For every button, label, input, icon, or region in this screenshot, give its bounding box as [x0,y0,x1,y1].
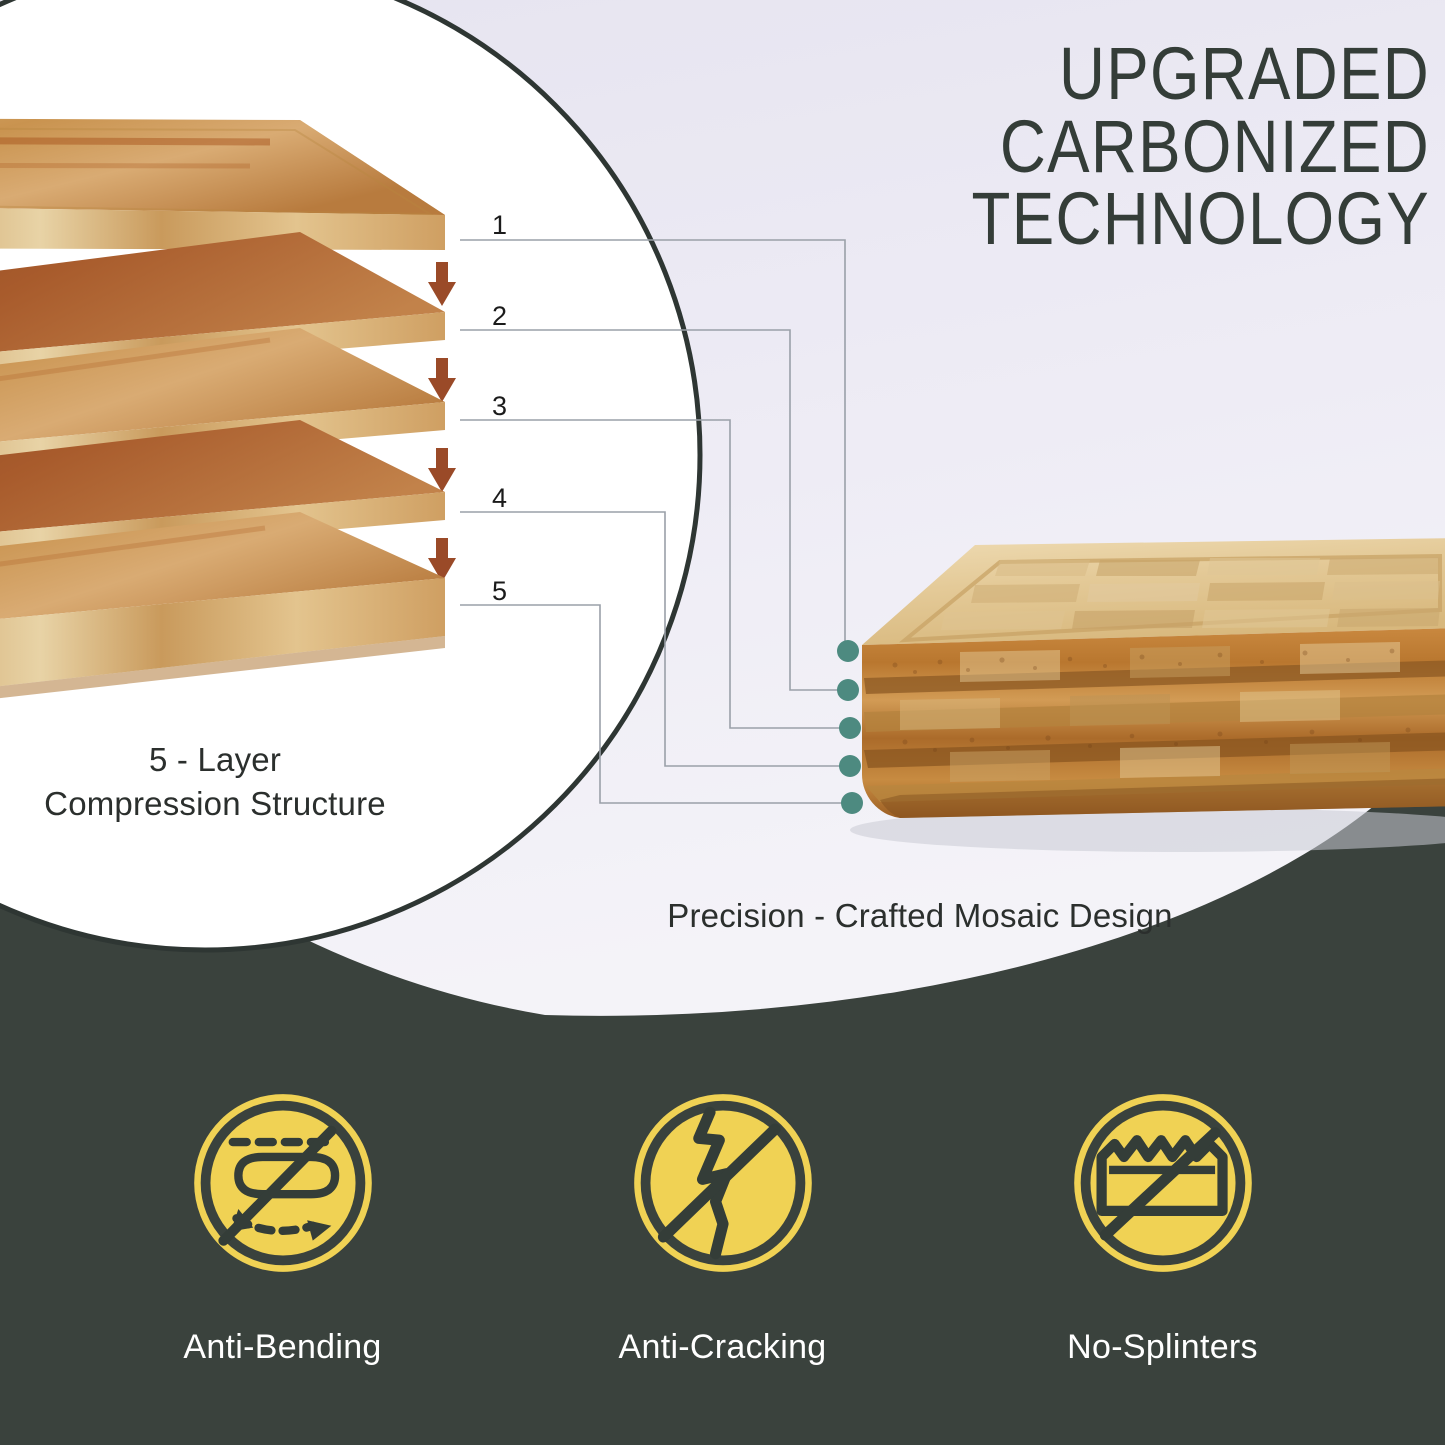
feature-item: No-Splinters [1028,1090,1298,1367]
feature-item: Anti-Bending [148,1090,418,1367]
no-cracking-icon [630,1090,816,1276]
product-infographic: 1 2 3 4 5 [0,0,1445,1445]
right-panel-caption: Precision - Crafted Mosaic Design [560,897,1280,935]
feature-item: Anti-Cracking [588,1090,858,1367]
left-panel-caption: 5 - Layer Compression Structure [0,738,430,826]
layer-markers [837,640,863,814]
feature-label: Anti-Cracking [619,1328,827,1367]
no-bending-icon [190,1090,376,1276]
feature-label: No-Splinters [1067,1328,1258,1367]
page-title: UPGRADED CARBONIZED TECHNOLOGY [703,38,1430,256]
feature-list: Anti-Bending Anti-Cracking No-Splinters [0,1090,1445,1367]
feature-label: Anti-Bending [183,1328,381,1367]
no-splinters-icon [1070,1090,1256,1276]
